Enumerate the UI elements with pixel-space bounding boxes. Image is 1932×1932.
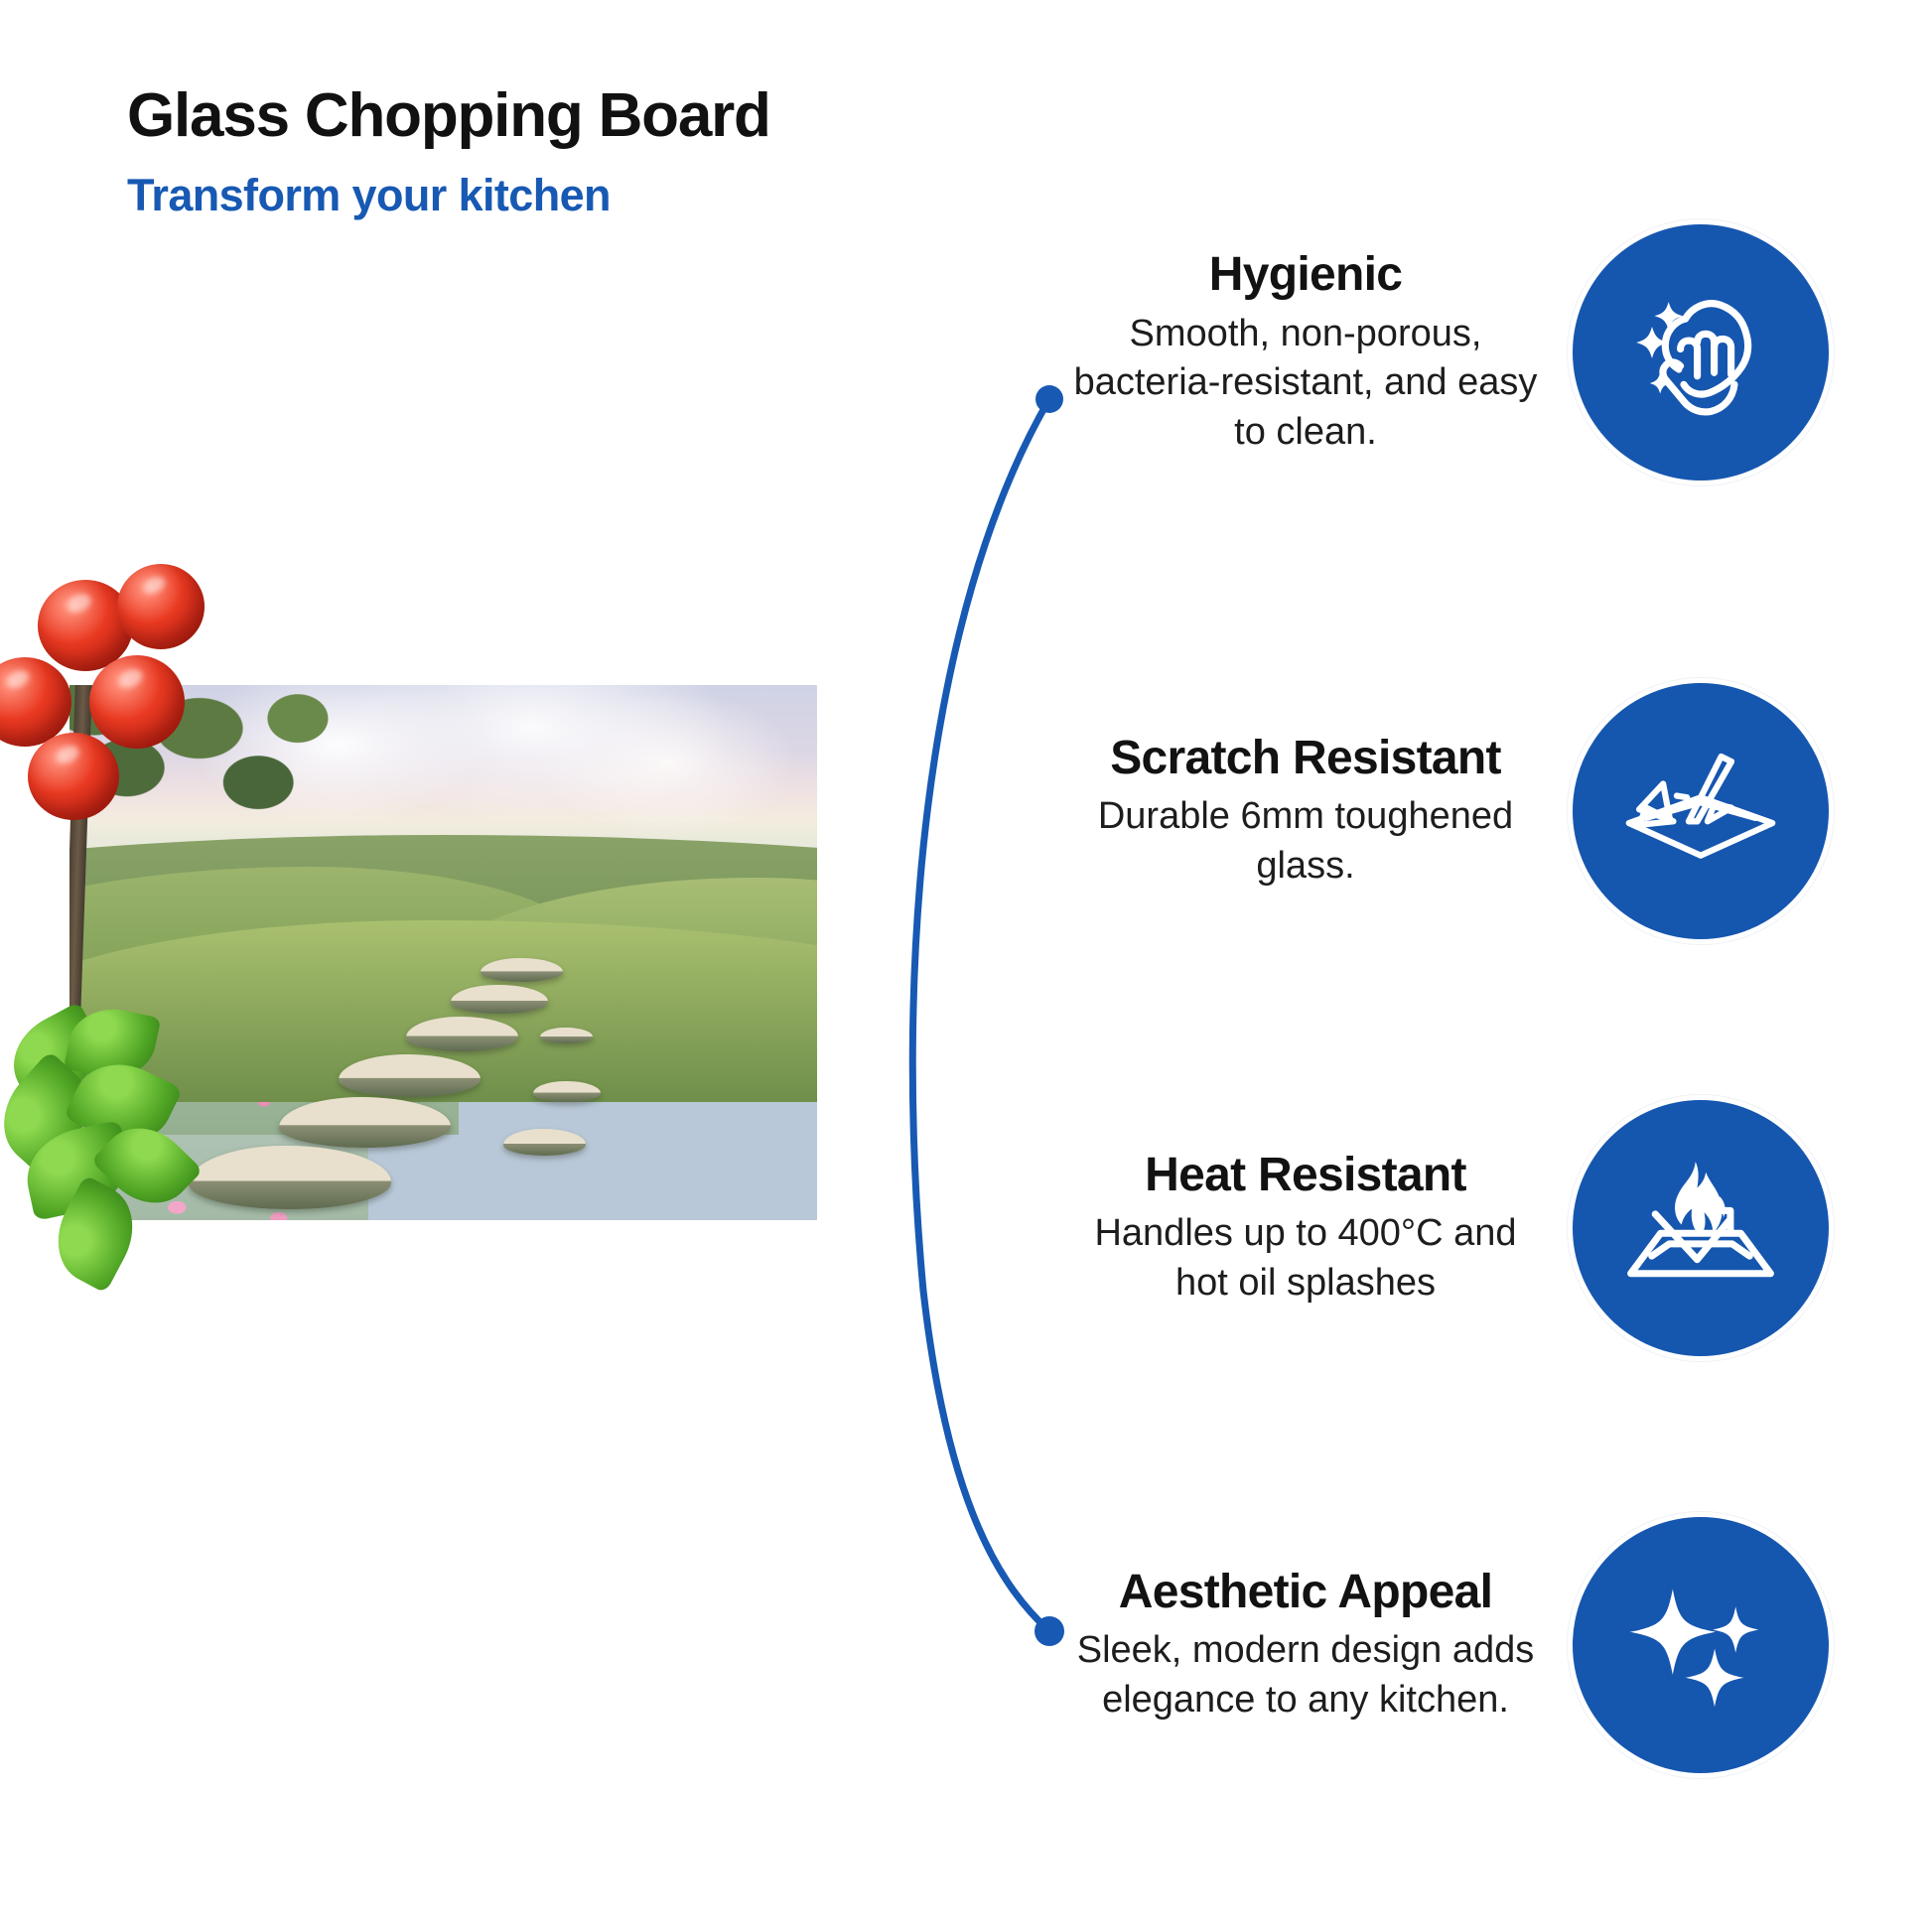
connector-path — [912, 399, 1049, 1631]
feature-title: Heat Resistant — [1072, 1149, 1539, 1202]
feature-title: Aesthetic Appeal — [1072, 1566, 1539, 1619]
feature-title: Hygienic — [1072, 248, 1539, 302]
feature-text-block: Heat Resistant Handles up to 400°C and h… — [1072, 1149, 1539, 1309]
tomato — [117, 564, 205, 649]
feature-description: Sleek, modern design adds elegance to an… — [1072, 1626, 1539, 1725]
feature-aesthetic-appeal: Aesthetic Appeal Sleek, modern design ad… — [1072, 1517, 1829, 1773]
hand-wiping-sparkle-icon — [1573, 224, 1829, 481]
feature-scratch-resistant: Scratch Resistant Durable 6mm toughened … — [1072, 683, 1829, 939]
artwork-stepping-stone — [451, 985, 548, 1015]
knife-scratch-surface-icon — [1573, 683, 1829, 939]
connector-dot-top — [1035, 385, 1063, 413]
feature-description: Handles up to 400°C and hot oil splashes — [1072, 1209, 1539, 1308]
sparkles-glyph — [1613, 1558, 1788, 1732]
artwork-stepping-stone — [540, 1028, 593, 1043]
knife-scratch-surface-glyph — [1615, 726, 1786, 897]
artwork-stepping-stone — [406, 1017, 518, 1051]
feature-description: Durable 6mm toughened glass. — [1072, 792, 1539, 891]
tomato — [28, 733, 119, 820]
artwork-stepping-stone — [503, 1129, 586, 1156]
artwork-stepping-stone — [533, 1081, 601, 1103]
feature-title: Scratch Resistant — [1072, 732, 1539, 785]
connector-dot-bottom — [1035, 1616, 1064, 1646]
feature-text-block: Aesthetic Appeal Sleek, modern design ad… — [1072, 1566, 1539, 1725]
hand-wiping-sparkle-glyph — [1616, 268, 1785, 437]
artwork-stepping-stone — [481, 958, 563, 982]
feature-text-block: Hygienic Smooth, non-porous, bacteria-re… — [1072, 248, 1539, 457]
page-subtitle: Transform your kitchen — [127, 171, 1120, 220]
sparkles-icon — [1573, 1517, 1829, 1773]
feature-hygienic: Hygienic Smooth, non-porous, bacteria-re… — [1072, 224, 1829, 481]
tomato-garnish-group — [0, 586, 248, 884]
parsley-garnish-group — [0, 1003, 250, 1301]
flame-deflect-arrow-icon — [1573, 1100, 1829, 1356]
infographic-canvas: Glass Chopping Board Transform your kitc… — [0, 0, 1932, 1932]
feature-description: Smooth, non-porous, bacteria-resistant, … — [1072, 310, 1539, 457]
feature-text-block: Scratch Resistant Durable 6mm toughened … — [1072, 732, 1539, 892]
tomato — [89, 655, 185, 749]
flame-deflect-arrow-glyph — [1613, 1141, 1788, 1315]
page-title: Glass Chopping Board — [127, 83, 1120, 149]
title-block: Glass Chopping Board Transform your kitc… — [127, 83, 1120, 219]
product-image-composite — [0, 596, 894, 1350]
feature-heat-resistant: Heat Resistant Handles up to 400°C and h… — [1072, 1100, 1829, 1356]
